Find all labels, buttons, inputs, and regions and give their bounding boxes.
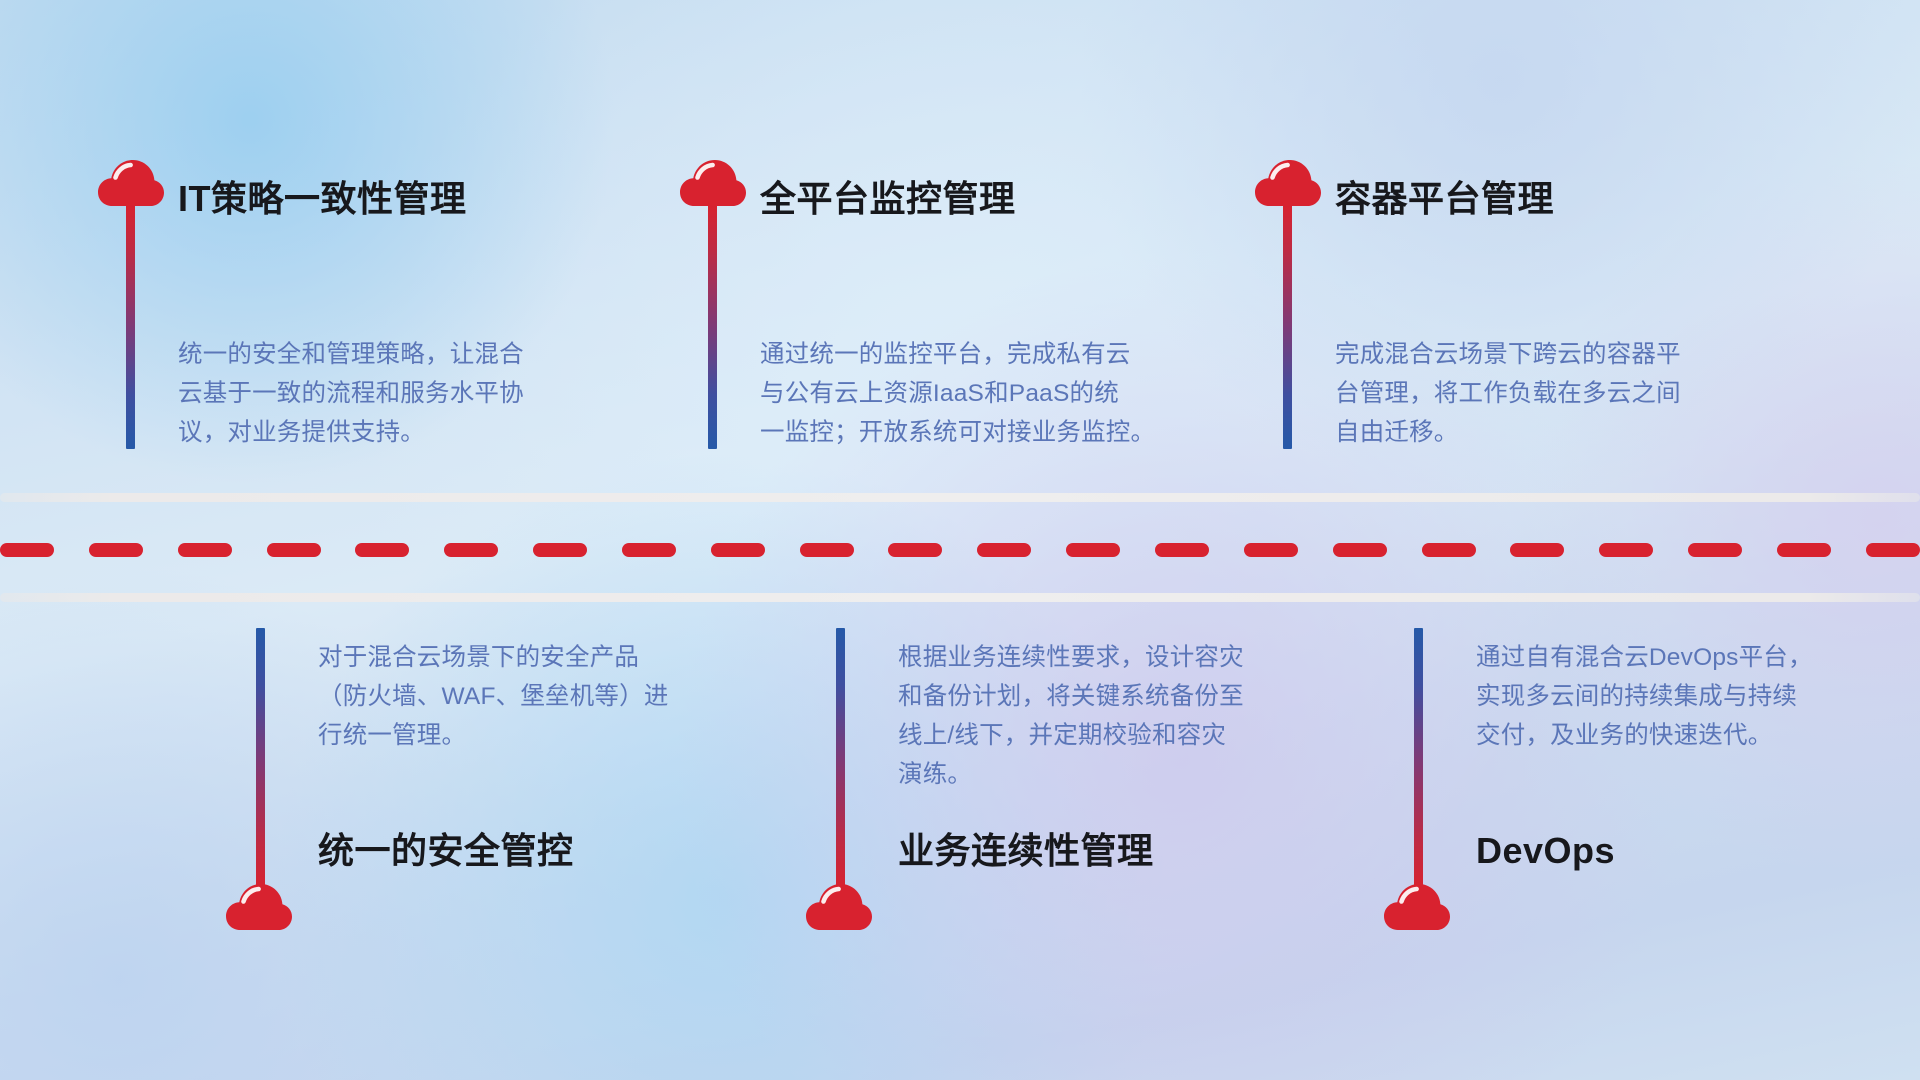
divider-line-bottom [0,593,1920,602]
dash-segment [1066,543,1120,557]
dash-segment [711,543,765,557]
dash-segment [355,543,409,557]
dash-segment [444,543,498,557]
body-line: 通过统一的监控平台，完成私有云 [760,335,1155,374]
dash-segment [1422,543,1476,557]
cloud-icon [806,884,872,937]
dash-segment [1510,543,1564,557]
top-item-heading: 全平台监控管理 [760,181,1016,217]
body-line: （防火墙、WAF、堡垒机等）进 [318,677,669,716]
body-line: 议，对业务提供支持。 [178,413,524,452]
dash-segment [888,543,942,557]
pin-stem [1283,204,1292,449]
dash-segment [1866,543,1920,557]
body-line: 台管理，将工作负载在多云之间 [1335,374,1681,413]
dash-segment [622,543,676,557]
top-item-body: 完成混合云场景下跨云的容器平 台管理，将工作负载在多云之间 自由迁移。 [1335,335,1681,452]
top-item-heading: 容器平台管理 [1335,181,1554,217]
bottom-item-heading: 统一的安全管控 [318,833,574,869]
body-line: 统一的安全和管理策略，让混合 [178,335,524,374]
body-line: 自由迁移。 [1335,413,1681,452]
bottom-item-body: 通过自有混合云DevOps平台， 实现多云间的持续集成与持续 交付，及业务的快速… [1476,638,1813,755]
dashed-separator [0,543,1920,557]
top-item-body: 统一的安全和管理策略，让混合 云基于一致的流程和服务水平协 议，对业务提供支持。 [178,335,524,452]
body-line: 对于混合云场景下的安全产品 [318,638,669,677]
body-line: 交付，及业务的快速迭代。 [1476,716,1813,755]
bottom-item-body: 对于混合云场景下的安全产品 （防火墙、WAF、堡垒机等）进 行统一管理。 [318,638,669,755]
pin-stem [708,204,717,449]
body-line: 与公有云上资源IaaS和PaaS的统 [760,374,1155,413]
divider-line-top [0,493,1920,502]
dash-segment [800,543,854,557]
dash-segment [267,543,321,557]
body-line: 一监控；开放系统可对接业务监控。 [760,413,1155,452]
dash-segment [1155,543,1209,557]
dash-segment [1688,543,1742,557]
pin-stem [836,628,845,890]
body-line: 和备份计划，将关键系统备份至 [898,677,1244,716]
infographic-canvas: IT策略一致性管理 统一的安全和管理策略，让混合 云基于一致的流程和服务水平协 … [0,0,1920,1080]
cloud-icon [1384,884,1450,937]
body-line: 线上/线下，并定期校验和容灾 [898,716,1244,755]
dash-segment [977,543,1031,557]
dash-segment [1244,543,1298,557]
cloud-icon [226,884,292,937]
dash-segment [1333,543,1387,557]
body-line: 根据业务连续性要求，设计容灾 [898,638,1244,677]
body-line: 完成混合云场景下跨云的容器平 [1335,335,1681,374]
body-line: 实现多云间的持续集成与持续 [1476,677,1813,716]
pin-stem [1414,628,1423,890]
bottom-item-heading: DevOps [1476,833,1615,869]
dash-segment [178,543,232,557]
bottom-item-heading: 业务连续性管理 [898,833,1154,869]
top-item-heading: IT策略一致性管理 [178,181,467,217]
body-line: 通过自有混合云DevOps平台， [1476,638,1813,677]
dash-segment [533,543,587,557]
top-item-body: 通过统一的监控平台，完成私有云 与公有云上资源IaaS和PaaS的统 一监控；开… [760,335,1155,452]
body-line: 行统一管理。 [318,716,669,755]
body-line: 演练。 [898,755,1244,794]
dash-segment [1777,543,1831,557]
bottom-item-body: 根据业务连续性要求，设计容灾 和备份计划，将关键系统备份至 线上/线下，并定期校… [898,638,1244,794]
pin-stem [126,204,135,449]
pin-stem [256,628,265,890]
dash-segment [89,543,143,557]
body-line: 云基于一致的流程和服务水平协 [178,374,524,413]
dash-segment [0,543,54,557]
dash-segment [1599,543,1653,557]
